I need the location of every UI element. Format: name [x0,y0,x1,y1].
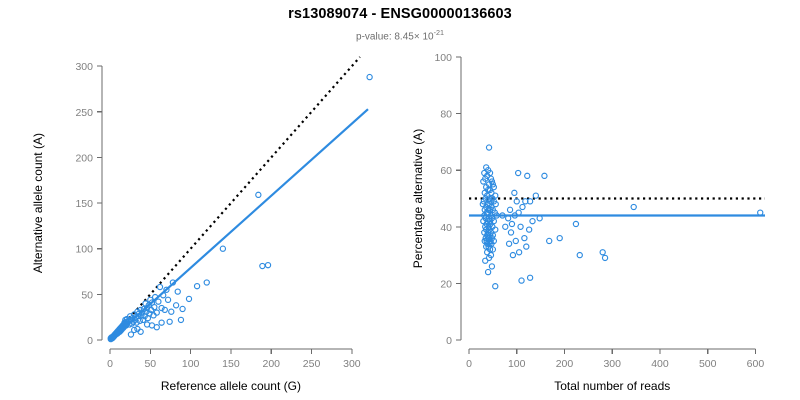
data-point [220,246,225,251]
data-point [602,255,607,260]
y-axis-tick-label: 100 [434,52,452,64]
y-axis-tick-label: 0 [446,335,452,347]
data-point [180,306,185,311]
scatter-panel-left: 050100150200250300050100150200250300Refe… [0,0,400,400]
scatter-plot-right: 0204060801000100200300400500600Total num… [400,0,800,400]
data-point [483,258,488,263]
data-point [489,264,494,269]
data-point [169,309,174,314]
data-point [165,297,170,302]
data-point [573,221,578,226]
reference-line [110,57,360,340]
x-axis-tick-label: 0 [107,358,113,370]
data-point [542,173,547,178]
y-axis-tick-label: 20 [440,278,452,290]
x-axis-tick-label: 300 [343,358,361,370]
data-point [174,303,179,308]
y-axis-tick-label: 250 [75,107,93,119]
x-axis-title: Reference allele count (G) [161,379,301,393]
data-point [520,204,525,209]
data-point [159,320,164,325]
data-point [525,173,530,178]
x-axis-tick-label: 100 [508,358,526,370]
scatter-plot-left: 050100150200250300050100150200250300Refe… [0,0,400,400]
y-axis-tick-label: 40 [440,222,452,234]
data-point [265,263,270,268]
data-point [519,278,524,283]
data-point [547,238,552,243]
data-point [510,253,515,258]
data-point [507,207,512,212]
data-point [517,250,522,255]
data-point [175,289,180,294]
y-axis-tick-label: 300 [75,61,93,73]
x-axis-tick-label: 100 [182,358,200,370]
data-point [557,236,562,241]
data-point [528,275,533,280]
data-point [527,227,532,232]
x-axis-tick-label: 150 [222,358,240,370]
y-axis-tick-label: 50 [81,289,93,301]
data-point [132,327,137,332]
x-axis-title: Total number of reads [554,379,670,393]
data-point-group [480,145,763,289]
data-point [524,244,529,249]
data-point [577,253,582,258]
data-point [513,238,518,243]
data-point [256,192,261,197]
data-point [512,190,517,195]
scatter-panel-right: 0204060801000100200300400500600Total num… [400,0,800,400]
y-axis-tick-label: 0 [87,335,93,347]
data-point [486,269,491,274]
data-point [522,236,527,241]
data-point-group [108,74,372,341]
y-axis-tick-label: 60 [440,165,452,177]
data-point [186,296,191,301]
data-point [631,204,636,209]
data-point [486,145,491,150]
x-axis-tick-label: 250 [303,358,321,370]
data-point [204,280,209,285]
data-point [508,230,513,235]
data-point [178,317,183,322]
y-axis-title: Percentage alternative (A) [411,129,425,268]
y-axis-tick-label: 80 [440,109,452,121]
x-axis-tick-label: 600 [747,358,765,370]
x-axis-tick-label: 200 [262,358,280,370]
data-point [600,250,605,255]
data-point [509,221,514,226]
y-axis-tick-label: 200 [75,152,93,164]
x-axis-tick-label: 300 [603,358,621,370]
x-axis-tick-label: 500 [699,358,717,370]
data-point [533,193,538,198]
data-point [518,224,523,229]
data-point [194,284,199,289]
data-point [493,284,498,289]
x-axis-tick-label: 200 [556,358,574,370]
y-axis-tick-label: 100 [75,244,93,256]
figure-root: rs13089074 - ENSG00000136603 p-value: 8.… [0,0,800,400]
data-point [154,325,159,330]
data-point [367,74,372,79]
data-point [503,224,508,229]
x-axis-tick-label: 400 [651,358,669,370]
data-point [516,170,521,175]
x-axis-tick-label: 0 [466,358,472,370]
data-point [530,219,535,224]
data-point [260,263,265,268]
data-point [167,319,172,324]
y-axis-tick-label: 150 [75,198,93,210]
data-point [507,241,512,246]
x-axis-tick-label: 50 [144,358,156,370]
y-axis-title: Alternative allele count (A) [31,133,45,273]
